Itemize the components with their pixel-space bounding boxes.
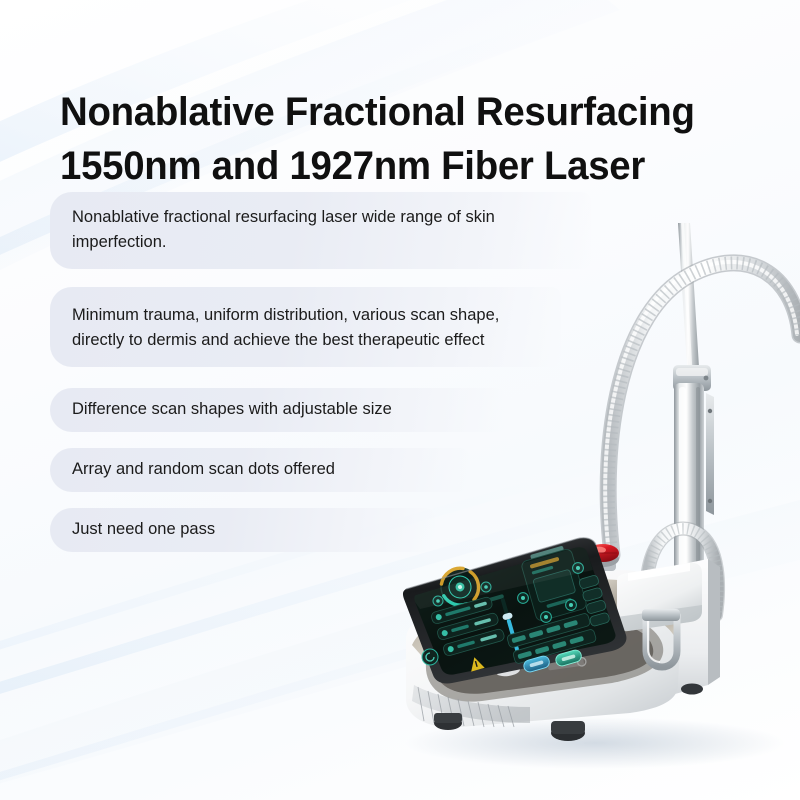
title-line-2: 1550nm and 1927nm Fiber Laser	[60, 139, 732, 193]
feature-text: Difference scan shapes with adjustable s…	[72, 400, 392, 418]
back-button[interactable]	[422, 649, 438, 665]
laser-machine-illustration	[390, 215, 800, 775]
feature-card: Just need one pass	[50, 508, 435, 552]
banner-stage: Nonablative Fractional Resurfacing 1550n…	[0, 0, 800, 800]
feature-text: Array and random scan dots offered	[72, 460, 335, 478]
page-title: Nonablative Fractional Resurfacing 1550n…	[60, 85, 732, 193]
title-line-1: Nonablative Fractional Resurfacing	[60, 90, 695, 134]
feature-text: Just need one pass	[72, 520, 215, 538]
product-image	[390, 215, 800, 775]
